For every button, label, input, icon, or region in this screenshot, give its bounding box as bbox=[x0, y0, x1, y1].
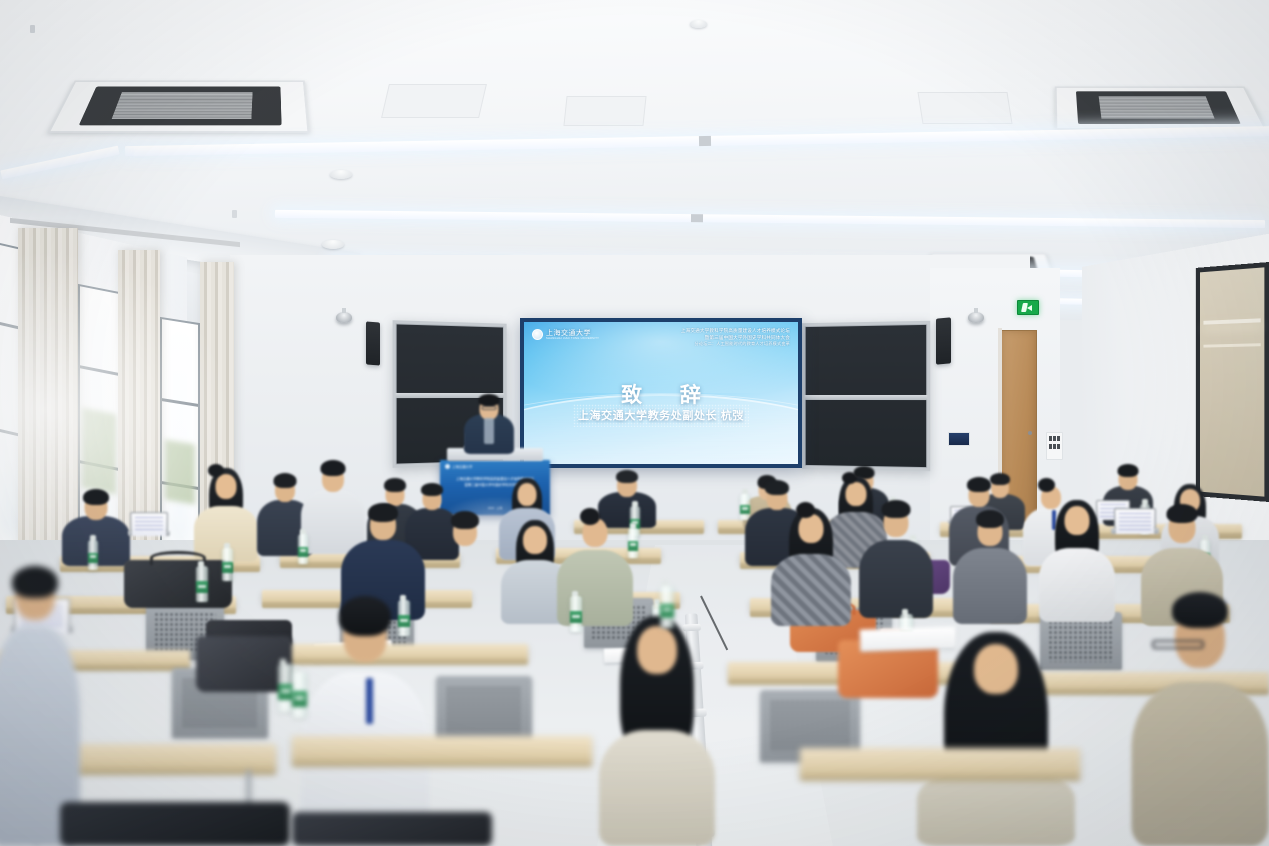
dome-security-camera-icon bbox=[968, 312, 984, 323]
ac-cassette-unit bbox=[1055, 87, 1267, 130]
screen-main-title: 致 辞 bbox=[524, 379, 798, 409]
bag-foreground[interactable] bbox=[60, 802, 290, 846]
attendee-foreground bbox=[300, 596, 430, 846]
screen-header-line-1: 上海交通大学教科学院高质量建设人才培养模式论坛 bbox=[681, 327, 790, 334]
door-knob-icon[interactable] bbox=[1028, 431, 1032, 435]
backpack[interactable] bbox=[124, 560, 232, 608]
attendee bbox=[1038, 492, 1116, 622]
bag-foreground[interactable] bbox=[292, 812, 492, 846]
desk-front bbox=[800, 748, 1080, 776]
attendee-laptop[interactable] bbox=[130, 512, 168, 538]
chalkboard-panel-right bbox=[802, 321, 930, 471]
attendee bbox=[428, 508, 502, 622]
screen-header-block: 上海交通大学教科学院高质量建设人才培养模式论坛 暨第三届中国大学外国史学科共同体… bbox=[681, 327, 790, 348]
eyeglasses-icon bbox=[482, 406, 497, 410]
attendee bbox=[858, 496, 934, 618]
corridor-interior-window bbox=[1196, 262, 1269, 502]
podium-logo-mark-icon bbox=[445, 464, 450, 469]
university-logo: 上海交通大学 SHANGHAI JIAO TONG UNIVERSITY bbox=[532, 329, 599, 340]
attendee-foreground bbox=[1130, 590, 1269, 846]
screen-subtitle: 上海交通大学教务处副处长 杭弢 bbox=[524, 407, 798, 423]
ac-cassette-unit bbox=[48, 81, 310, 133]
wall-speaker-left bbox=[366, 321, 380, 365]
sprinkler-head-icon bbox=[232, 210, 237, 218]
wall-speaker-right bbox=[936, 317, 951, 364]
projection-screen[interactable]: 上海交通大学 SHANGHAI JIAO TONG UNIVERSITY 上海交… bbox=[520, 318, 802, 468]
attendee-foreground bbox=[0, 566, 70, 846]
water-bottle[interactable] bbox=[298, 534, 308, 564]
attendee-foreground bbox=[916, 618, 1076, 846]
logo-text: 上海交通大学 bbox=[546, 330, 599, 337]
lanyard bbox=[366, 678, 373, 724]
logo-mark-icon bbox=[532, 329, 543, 340]
ceiling-access-panel bbox=[917, 92, 1012, 124]
attendee-foreground bbox=[598, 604, 716, 846]
water-bottle[interactable] bbox=[196, 566, 208, 602]
water-bottle[interactable] bbox=[222, 548, 233, 581]
water-bottle[interactable] bbox=[660, 586, 674, 628]
desk-front bbox=[292, 736, 592, 762]
wall-light-switch-plate[interactable] bbox=[1046, 432, 1063, 460]
water-bottle[interactable] bbox=[292, 672, 307, 718]
attendee bbox=[952, 506, 1028, 624]
water-bottle[interactable] bbox=[570, 596, 582, 632]
ceiling-access-panel bbox=[381, 84, 487, 118]
water-bottle[interactable] bbox=[88, 540, 98, 570]
smoke-detector-icon bbox=[330, 170, 352, 179]
chair[interactable] bbox=[436, 676, 532, 744]
attendee bbox=[770, 500, 852, 626]
podium-logo-text: 上海交通大学 bbox=[452, 464, 472, 469]
wall-control-panel[interactable] bbox=[948, 432, 970, 446]
screen-header-line-3: 分论坛二：人工智能时代的教育人才培养模式变革 bbox=[681, 341, 790, 348]
logo-subtext: SHANGHAI JIAO TONG UNIVERSITY bbox=[546, 337, 599, 340]
conference-room-photo: 上海交通大学 SHANGHAI JIAO TONG UNIVERSITY 上海交… bbox=[0, 0, 1269, 846]
smoke-detector-icon bbox=[690, 20, 707, 28]
eyeglasses-icon bbox=[1152, 640, 1204, 649]
dome-security-camera-icon bbox=[336, 312, 352, 323]
sprinkler-head-icon bbox=[30, 25, 35, 33]
speaker-at-lectern bbox=[462, 392, 516, 452]
smoke-detector-icon bbox=[322, 240, 344, 249]
exit-sign bbox=[1017, 300, 1039, 315]
ceiling-access-panel bbox=[563, 96, 646, 126]
